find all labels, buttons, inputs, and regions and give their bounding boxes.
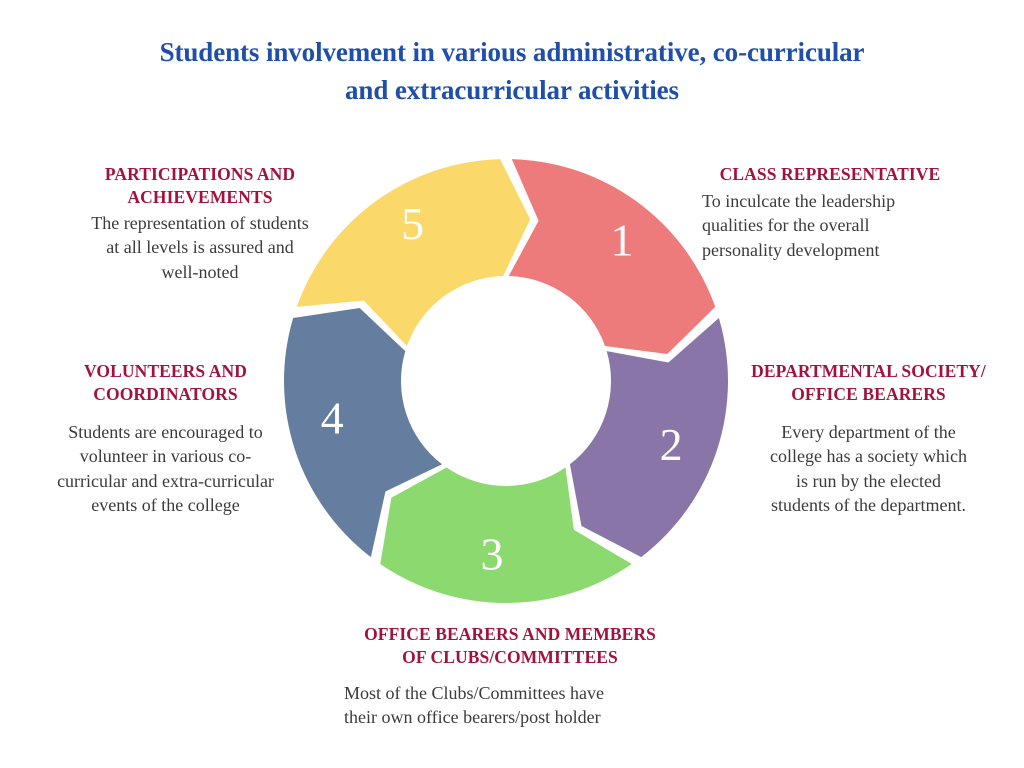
callout-2-body-line-1: To inculcate the leadership: [702, 189, 1020, 213]
callout-5-body: Students are encouraged to volunteer in …: [18, 420, 313, 517]
callout-4-body-line-2: their own office bearers/post holder: [344, 705, 720, 729]
callout-3-body-line-4: students of the department.: [716, 493, 1021, 517]
callout-1-heading: PARTICIPATIONS AND ACHIEVEMENTS: [30, 163, 370, 209]
page-title-line-2: and extracurricular activities: [62, 71, 962, 109]
callout-volunteers-coordinators: VOLUNTEERS AND COORDINATORS Students are…: [18, 360, 313, 517]
callout-1-body-line-1: The representation of students: [30, 211, 370, 235]
callout-2-body: To inculcate the leadership qualities fo…: [640, 189, 1020, 262]
callout-2-heading: CLASS REPRESENTATIVE: [640, 163, 1020, 186]
callout-4-body: Most of the Clubs/Committees have their …: [300, 681, 720, 730]
callout-3-heading-line-1: DEPARTMENTAL SOCIETY/: [716, 360, 1021, 383]
segment-number-4: 4: [321, 392, 344, 443]
callout-class-representative: CLASS REPRESENTATIVE To inculcate the le…: [640, 163, 1020, 262]
donut-segment-2[interactable]: [570, 318, 728, 557]
callout-3-body: Every department of the college has a so…: [716, 420, 1021, 517]
callout-4-body-line-1: Most of the Clubs/Committees have: [344, 681, 720, 705]
callout-3-body-line-1: Every department of the: [716, 420, 1021, 444]
segment-number-3: 3: [480, 529, 503, 580]
callout-departmental-society: DEPARTMENTAL SOCIETY/ OFFICE BEARERS Eve…: [716, 360, 1021, 517]
callout-1-body-line-2: at all levels is assured and: [30, 235, 370, 259]
callout-4-heading-line-1: OFFICE BEARERS AND MEMBERS: [300, 623, 720, 646]
callout-3-body-line-3: is run by the elected: [716, 469, 1021, 493]
segment-number-1: 1: [611, 215, 634, 266]
callout-3-heading-line-2: OFFICE BEARERS: [716, 383, 1021, 406]
segment-number-2: 2: [660, 419, 683, 470]
callout-5-body-line-2: volunteer in various co-: [18, 444, 313, 468]
callout-5-heading-line-2: COORDINATORS: [18, 383, 313, 406]
callout-4-heading: OFFICE BEARERS AND MEMBERS OF CLUBS/COMM…: [300, 623, 720, 669]
page-title-line-1: Students involvement in various administ…: [62, 33, 962, 71]
callout-1-heading-line-1: PARTICIPATIONS AND: [30, 163, 370, 186]
segment-number-5: 5: [401, 198, 424, 249]
callout-2-body-line-3: personality development: [702, 238, 1020, 262]
callout-1-heading-line-2: ACHIEVEMENTS: [30, 186, 370, 209]
callout-5-body-line-4: events of the college: [18, 493, 313, 517]
page-title: Students involvement in various administ…: [62, 33, 962, 110]
callout-5-heading: VOLUNTEERS AND COORDINATORS: [18, 360, 313, 406]
callout-3-heading: DEPARTMENTAL SOCIETY/ OFFICE BEARERS: [716, 360, 1021, 406]
callout-4-heading-line-2: OF CLUBS/COMMITTEES: [300, 646, 720, 669]
callout-office-bearers-clubs: OFFICE BEARERS AND MEMBERS OF CLUBS/COMM…: [300, 623, 720, 730]
callout-1-body-line-3: well-noted: [30, 260, 370, 284]
slide-canvas: Students involvement in various administ…: [0, 0, 1024, 768]
callout-3-body-line-2: college has a society which: [716, 444, 1021, 468]
callout-5-body-line-1: Students are encouraged to: [18, 420, 313, 444]
callout-participations-and-achievements: PARTICIPATIONS AND ACHIEVEMENTS The repr…: [30, 163, 370, 284]
callout-5-body-line-3: curricular and extra-curricular: [18, 469, 313, 493]
callout-2-body-line-2: qualities for the overall: [702, 213, 1020, 237]
callout-5-heading-line-1: VOLUNTEERS AND: [18, 360, 313, 383]
callout-1-body: The representation of students at all le…: [30, 211, 370, 284]
callout-2-heading-line-1: CLASS REPRESENTATIVE: [640, 163, 1020, 186]
